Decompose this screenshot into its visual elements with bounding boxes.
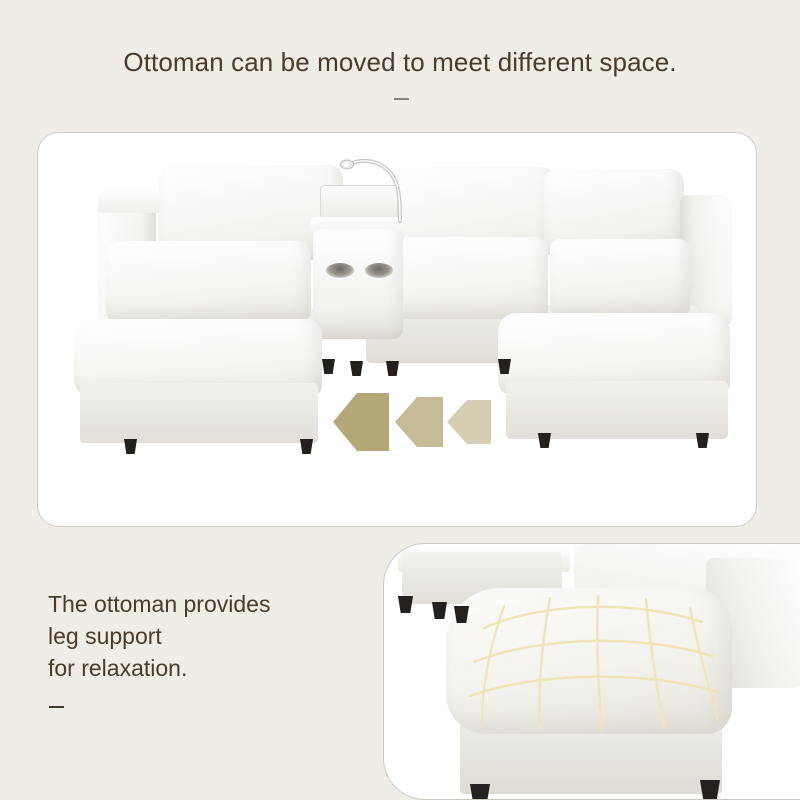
sofa-seat-cushion-left: [106, 241, 311, 321]
sofa-seat-cushion-right: [550, 239, 690, 317]
grid-stitching-pattern: [446, 588, 732, 734]
furniture-leg: [322, 359, 335, 374]
main-product-photo-card: [37, 132, 757, 527]
subcopy-line-2: leg support: [48, 620, 368, 652]
furniture-leg: [300, 439, 313, 454]
chevron-left-motion-icon: [333, 391, 493, 453]
furniture-leg: [432, 602, 447, 619]
left-ottoman-base: [80, 383, 318, 443]
furniture-leg: [350, 361, 363, 376]
page-headline: Ottoman can be moved to meet different s…: [0, 47, 800, 78]
furniture-leg: [538, 433, 551, 448]
furniture-leg: [696, 433, 709, 448]
inset-ottoman-cushion: [446, 588, 732, 734]
sofa-illustration: [38, 133, 756, 526]
subcopy-line-1: The ottoman provides: [48, 588, 368, 620]
furniture-leg: [124, 439, 137, 454]
sofa-arm-left-top: [98, 187, 160, 213]
furniture-leg: [386, 361, 399, 376]
storage-console: [313, 229, 403, 339]
inset-detail-photo-card: [383, 543, 800, 800]
subcopy-line-3: for relaxation.: [48, 652, 368, 684]
headline-divider: [394, 98, 409, 100]
reading-lamp-icon: [334, 151, 410, 223]
subcopy-text: The ottoman provides leg support for rel…: [48, 588, 368, 684]
cup-holder-right: [365, 263, 393, 278]
furniture-leg: [700, 780, 720, 800]
furniture-leg: [398, 596, 413, 613]
right-ottoman-base: [506, 381, 728, 439]
furniture-leg: [470, 784, 490, 800]
cup-holder-left: [326, 263, 354, 278]
subcopy-divider: [49, 706, 64, 708]
